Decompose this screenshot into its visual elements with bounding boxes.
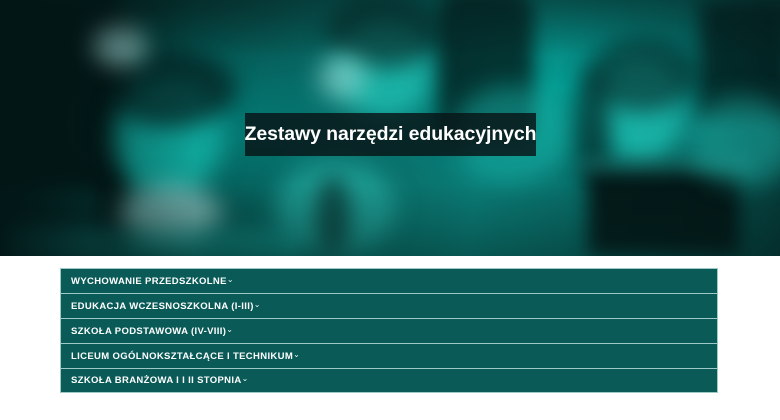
accordion-item-label: WYCHOWANIE PRZEDSZKOLNE: [71, 276, 227, 287]
hero-title-banner: Zestawy narzędzi edukacyjnych: [245, 113, 536, 156]
accordion-item-content: WYCHOWANIE PRZEDSZKOLNE ⌄: [61, 276, 234, 287]
accordion-item-content: LICEUM OGÓLNOKSZTAŁCĄCE I TECHNIKUM ⌄: [61, 351, 300, 362]
chevron-down-icon[interactable]: ⌄: [242, 375, 249, 383]
accordion-item-label: SZKOŁA PODSTAWOWA (IV-VIII): [71, 326, 226, 337]
accordion-item-label: EDUKACJA WCZESNOSZKOLNA (I-III): [71, 301, 254, 312]
page-title: Zestawy narzędzi edukacyjnych: [245, 123, 537, 146]
accordion-item-szkola-branzowa[interactable]: SZKOŁA BRANŻOWA I I II STOPNIA ⌄: [60, 368, 718, 393]
accordion-item-szkola-podstawowa[interactable]: SZKOŁA PODSTAWOWA (IV-VIII) ⌄: [60, 318, 718, 343]
accordion-item-liceum-technikum[interactable]: LICEUM OGÓLNOKSZTAŁCĄCE I TECHNIKUM ⌄: [60, 343, 718, 368]
accordion-item-content: SZKOŁA BRANŻOWA I I II STOPNIA ⌄: [61, 375, 248, 386]
accordion-item-edukacja-wczesnoszkolna[interactable]: EDUKACJA WCZESNOSZKOLNA (I-III) ⌄: [60, 293, 718, 318]
hero-banner: Zestawy narzędzi edukacyjnych: [0, 0, 780, 256]
accordion-item-content: EDUKACJA WCZESNOSZKOLNA (I-III) ⌄: [61, 301, 260, 312]
accordion-item-label: SZKOŁA BRANŻOWA I I II STOPNIA: [71, 375, 242, 386]
chevron-down-icon[interactable]: ⌄: [293, 351, 300, 359]
education-levels-accordion: WYCHOWANIE PRZEDSZKOLNE ⌄ EDUKACJA WCZES…: [60, 268, 718, 393]
accordion-item-wychowanie-przedszkolne[interactable]: WYCHOWANIE PRZEDSZKOLNE ⌄: [60, 268, 718, 293]
chevron-down-icon[interactable]: ⌄: [254, 301, 261, 309]
chevron-down-icon[interactable]: ⌄: [226, 326, 233, 334]
chevron-down-icon[interactable]: ⌄: [227, 276, 234, 284]
page-root: Zestawy narzędzi edukacyjnych WYCHOWANIE…: [0, 0, 780, 420]
accordion-item-label: LICEUM OGÓLNOKSZTAŁCĄCE I TECHNIKUM: [71, 351, 293, 362]
accordion-item-content: SZKOŁA PODSTAWOWA (IV-VIII) ⌄: [61, 326, 233, 337]
